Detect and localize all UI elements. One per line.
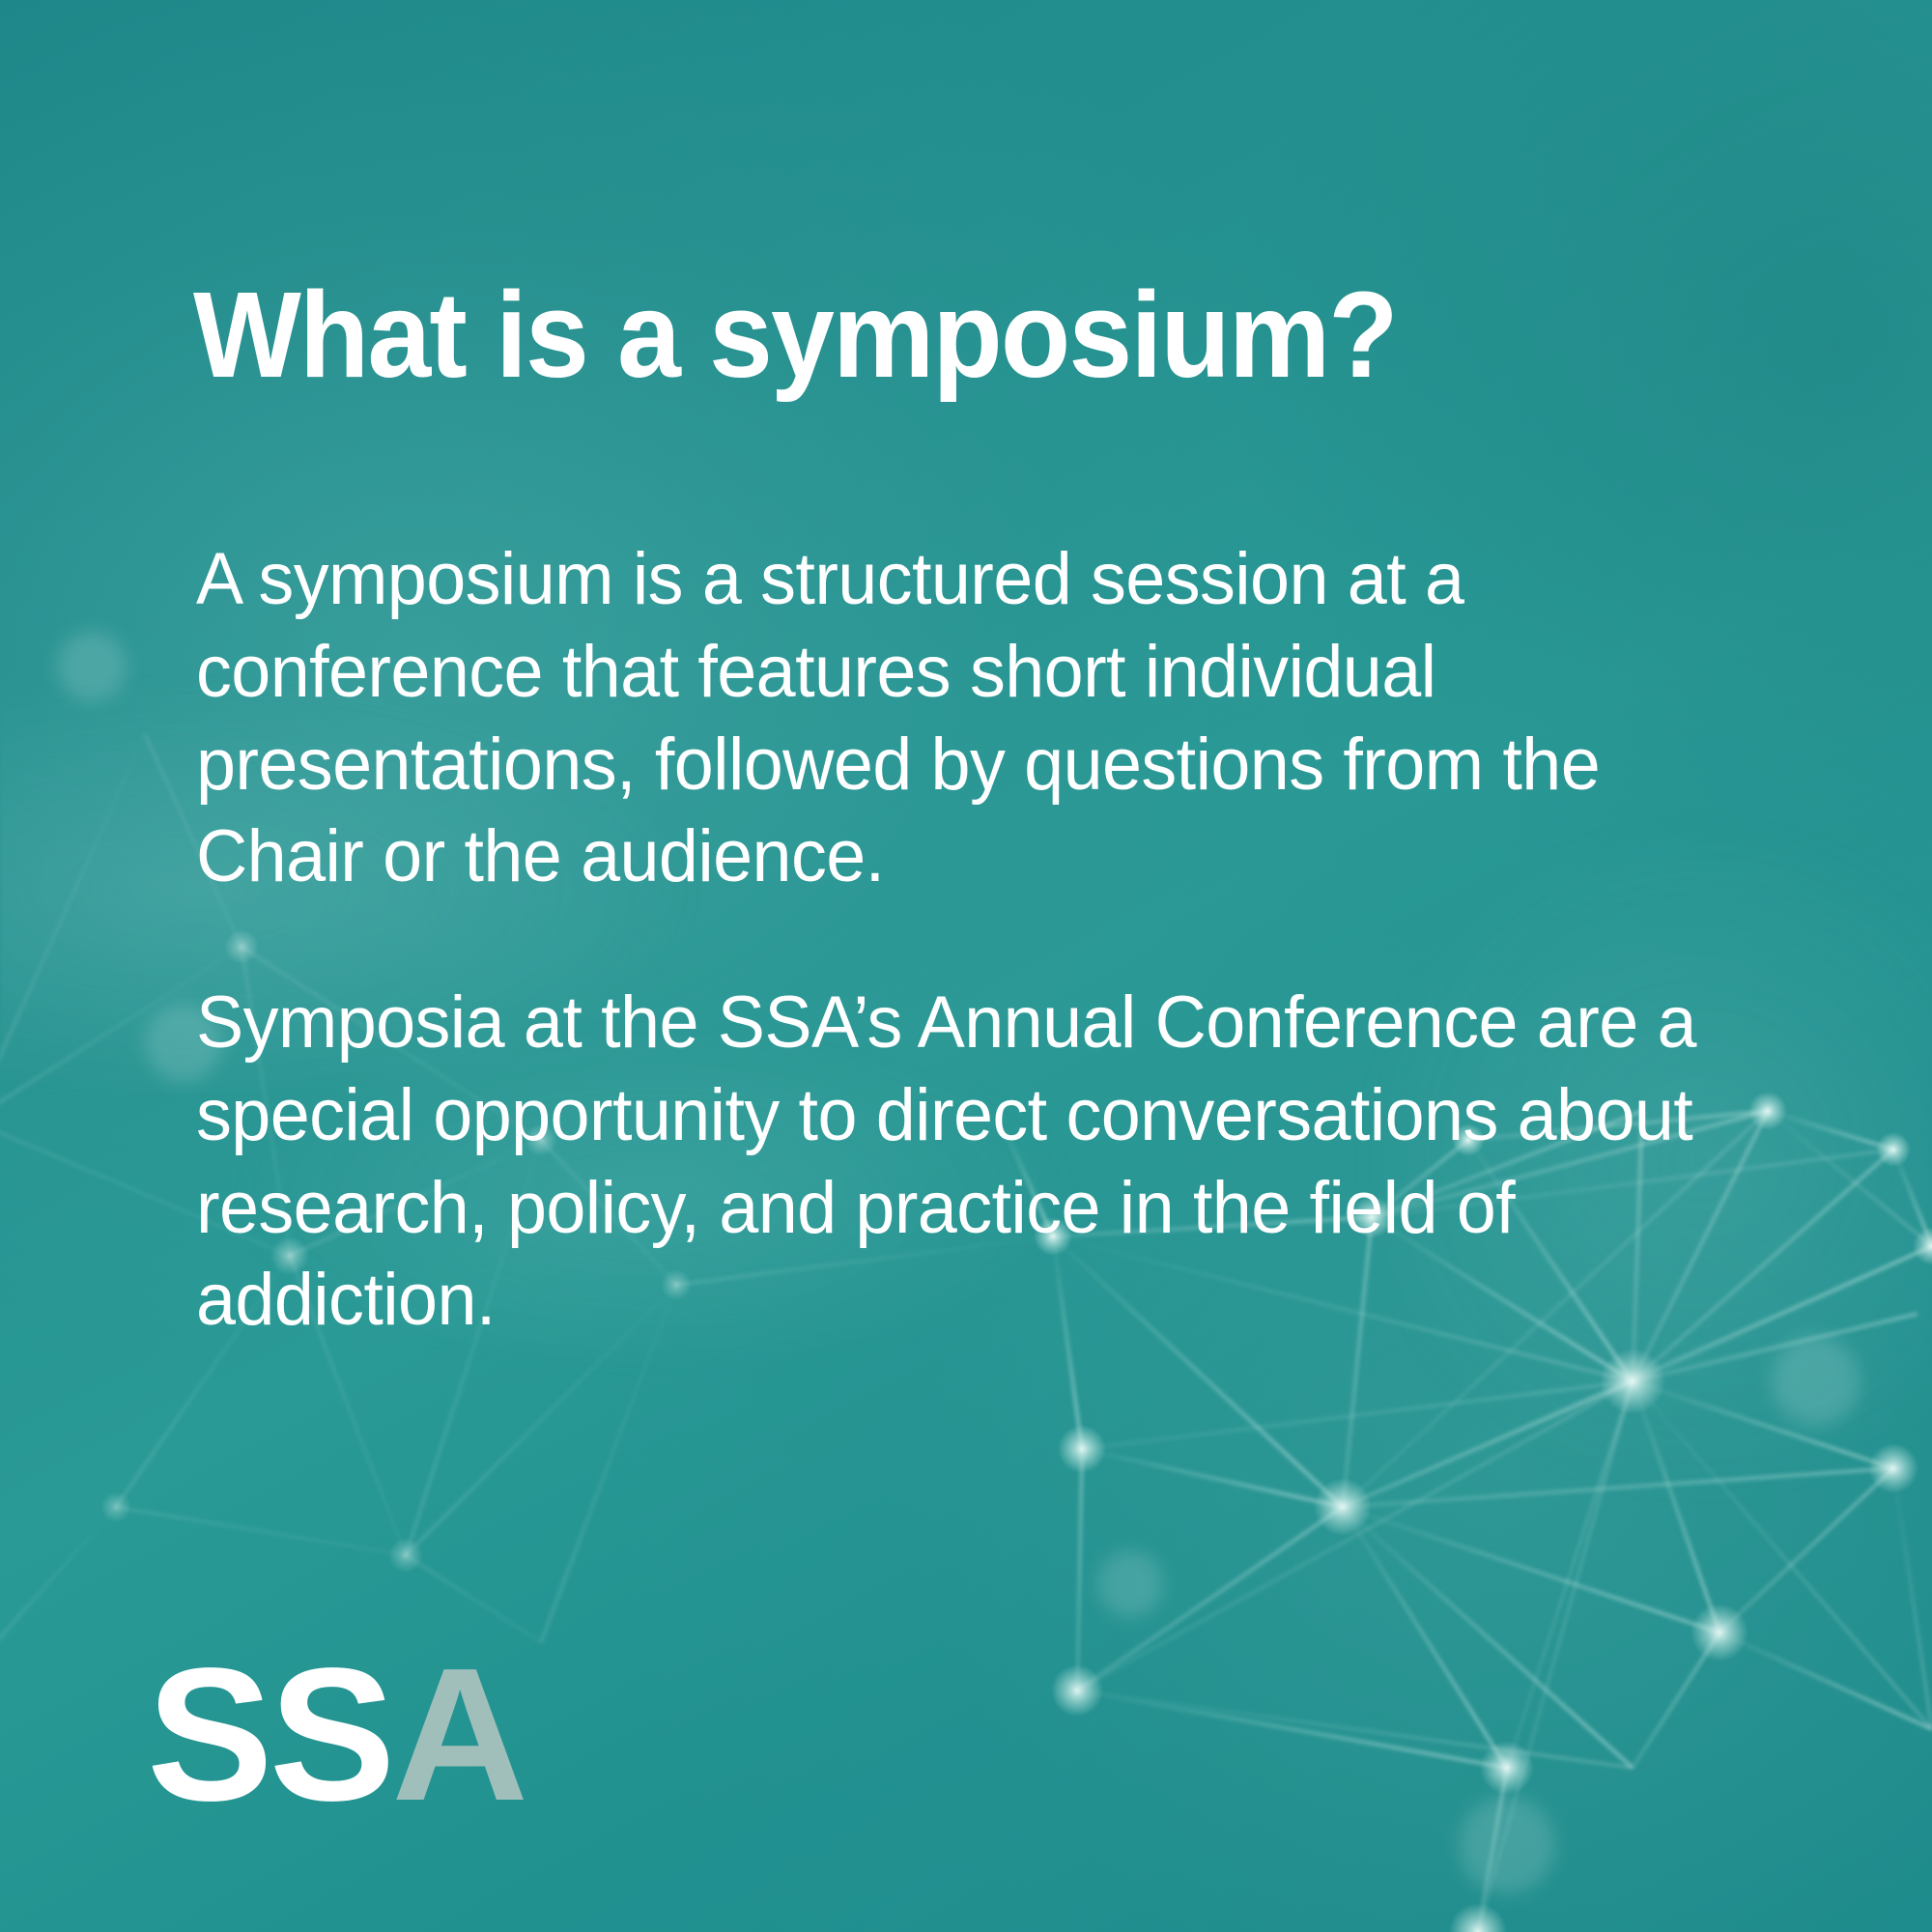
ssa-logo-secondary: A: [391, 1640, 525, 1830]
body-copy: A symposium is a structured session at a…: [196, 460, 1819, 1420]
social-graphic-card: What is a symposium? A symposium is a st…: [0, 0, 1932, 1932]
ssa-logo-primary: SS: [147, 1640, 391, 1830]
paragraph-ssa-conference: Symposia at the SSA’s Annual Conference …: [196, 977, 1771, 1347]
paragraph-definition: A symposium is a structured session at a…: [196, 533, 1771, 903]
content-layer: What is a symposium? A symposium is a st…: [0, 0, 1932, 1932]
page-title: What is a symposium?: [193, 270, 1683, 400]
ssa-logo: SSA: [147, 1640, 525, 1830]
